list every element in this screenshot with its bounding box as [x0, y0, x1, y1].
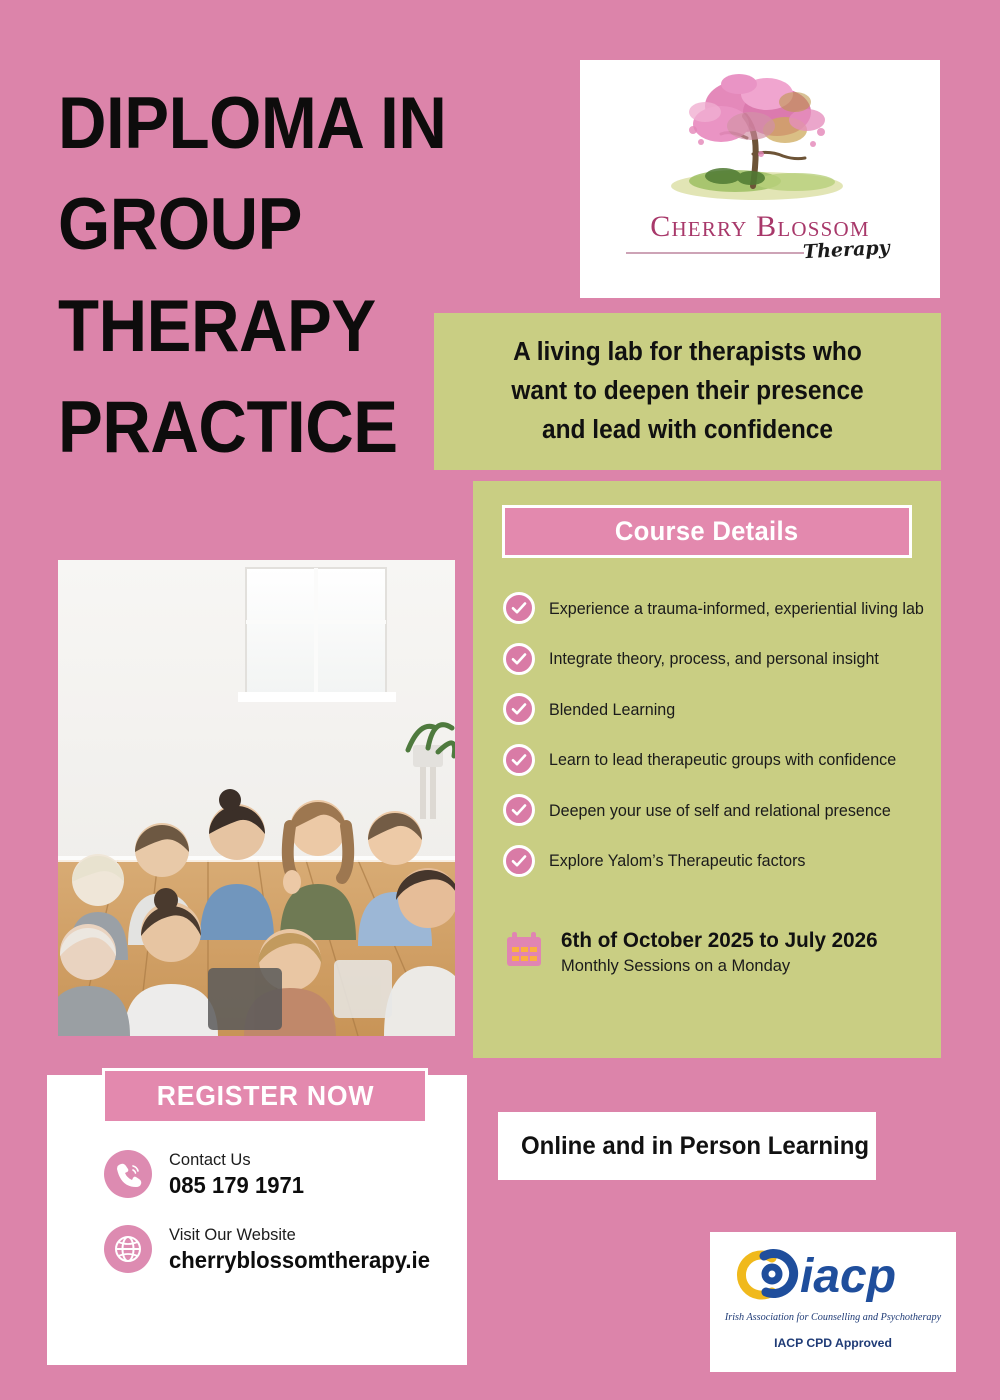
- course-details-list: Experience a trauma-informed, experienti…: [503, 583, 923, 886]
- globe-icon: [104, 1225, 152, 1273]
- iacp-cpd-approved: IACP CPD Approved: [774, 1336, 892, 1350]
- contact-phone-row[interactable]: Contact Us 085 179 1971: [104, 1150, 454, 1199]
- tagline-line-1: A living lab for therapists who: [513, 338, 862, 366]
- title-line-4: PRACTICE: [58, 392, 417, 464]
- list-item-label: Deepen your use of self and relational p…: [549, 801, 891, 820]
- contact-website-label: Visit Our Website: [169, 1225, 433, 1245]
- brand-logo-card: Cherry Blossom Therapy: [580, 60, 940, 298]
- contact-phone-label: Contact Us: [169, 1150, 305, 1170]
- list-item-label: Learn to lead therapeutic groups with co…: [549, 750, 896, 769]
- check-circle-icon: [503, 744, 535, 776]
- svg-text:iacp: iacp: [800, 1250, 896, 1303]
- contact-website-row[interactable]: Visit Our Website cherryblossomtherapy.i…: [104, 1225, 454, 1274]
- iacp-accreditation-box: iacp Irish Association for Counselling a…: [710, 1232, 956, 1372]
- logo-rule-group: Therapy: [626, 245, 894, 263]
- contact-website-value: cherryblossomtherapy.ie: [169, 1247, 430, 1273]
- title-line-2: GROUP: [58, 189, 417, 261]
- list-item: Integrate theory, process, and personal …: [503, 634, 923, 685]
- list-item: Deepen your use of self and relational p…: [503, 785, 923, 836]
- check-circle-icon: [503, 845, 535, 877]
- course-details-header: Course Details: [502, 505, 912, 558]
- list-item-label: Integrate theory, process, and personal …: [549, 649, 879, 668]
- course-details-title: Course Details: [615, 516, 799, 547]
- tagline-text: A living lab for therapists who want to …: [511, 333, 863, 449]
- list-item: Learn to lead therapeutic groups with co…: [503, 735, 923, 786]
- phone-icon: [104, 1150, 152, 1198]
- list-item-label: Blended Learning: [549, 700, 675, 719]
- title-line-1: DIPLOMA IN: [58, 88, 417, 160]
- check-circle-icon: [503, 643, 535, 675]
- course-date-frequency: Monthly Sessions on a Monday: [561, 956, 881, 976]
- calendar-icon: [503, 930, 545, 972]
- check-circle-icon: [503, 592, 535, 624]
- register-now-label: REGISTER NOW: [156, 1080, 374, 1112]
- list-item: Experience a trauma-informed, experienti…: [503, 583, 923, 634]
- tagline-box: A living lab for therapists who want to …: [434, 313, 941, 470]
- course-details-panel: Course Details Experience a trauma-infor…: [473, 481, 941, 1058]
- logo-divider: [626, 252, 804, 254]
- contact-website-text: Visit Our Website cherryblossomtherapy.i…: [169, 1225, 441, 1274]
- tagline-line-3: and lead with confidence: [542, 416, 833, 444]
- contact-phone-text: Contact Us 085 179 1971: [169, 1150, 310, 1199]
- title-line-3: THERAPY: [58, 291, 417, 363]
- iacp-subtitle: Irish Association for Counselling and Ps…: [725, 1312, 941, 1323]
- cherry-blossom-tree-icon: [635, 68, 885, 216]
- logo-wordmark: Cherry Blossom: [650, 212, 870, 242]
- group-therapy-illustration: [58, 560, 455, 1036]
- list-item-label: Experience a trauma-informed, experienti…: [549, 599, 924, 618]
- poster-root: DIPLOMA IN GROUP THERAPY PRACTICE: [0, 0, 1000, 1400]
- check-circle-icon: [503, 693, 535, 725]
- iacp-logo-icon: iacp: [726, 1238, 941, 1310]
- contact-phone-value: 085 179 1971: [169, 1172, 304, 1198]
- learning-mode-box: Online and in Person Learning: [498, 1112, 876, 1180]
- logo-script-word: Therapy: [803, 237, 891, 264]
- check-circle-icon: [503, 794, 535, 826]
- group-therapy-photo: [58, 560, 455, 1036]
- course-date-block: 6th of October 2025 to July 2026 Monthly…: [503, 928, 891, 976]
- page-title: DIPLOMA IN GROUP THERAPY PRACTICE: [58, 88, 448, 464]
- list-item: Explore Yalom’s Therapeutic factors: [503, 836, 923, 887]
- tagline-line-2: want to deepen their presence: [511, 377, 863, 405]
- learning-mode-label: Online and in Person Learning: [521, 1132, 869, 1161]
- course-date-text: 6th of October 2025 to July 2026 Monthly…: [561, 928, 891, 976]
- list-item-label: Explore Yalom’s Therapeutic factors: [549, 851, 805, 870]
- contact-details: Contact Us 085 179 1971 Visit Our Websit…: [104, 1150, 454, 1300]
- list-item: Blended Learning: [503, 684, 923, 735]
- course-date-range: 6th of October 2025 to July 2026: [561, 928, 878, 953]
- register-now-button[interactable]: REGISTER NOW: [102, 1068, 428, 1124]
